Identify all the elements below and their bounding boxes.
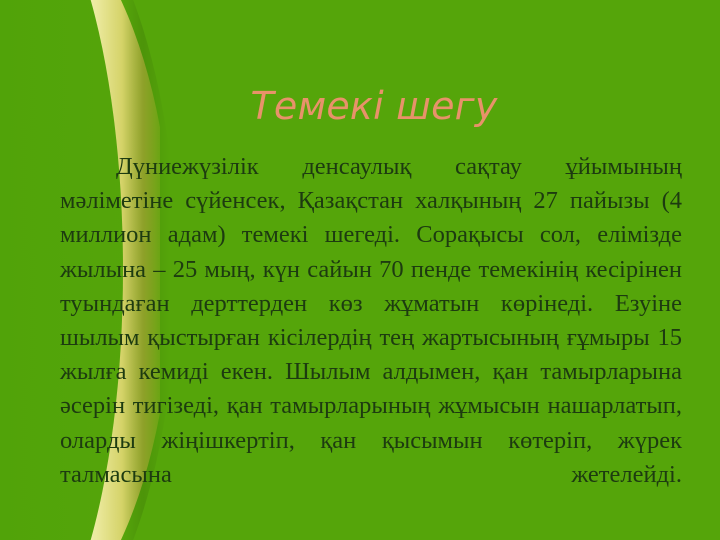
slide-body-paragraph: Дүниежүзілік денсаулық сақтау ұйымының м… [60,150,682,526]
slide-content: Темекі шегу Дүниежүзілік денсаулық сақта… [96,0,696,540]
slide-title: Темекі шегу [96,87,652,125]
slide-body-block: Дүниежүзілік денсаулық сақтау ұйымының м… [60,150,682,526]
presentation-slide: Темекі шегу Дүниежүзілік денсаулық сақта… [0,0,720,540]
